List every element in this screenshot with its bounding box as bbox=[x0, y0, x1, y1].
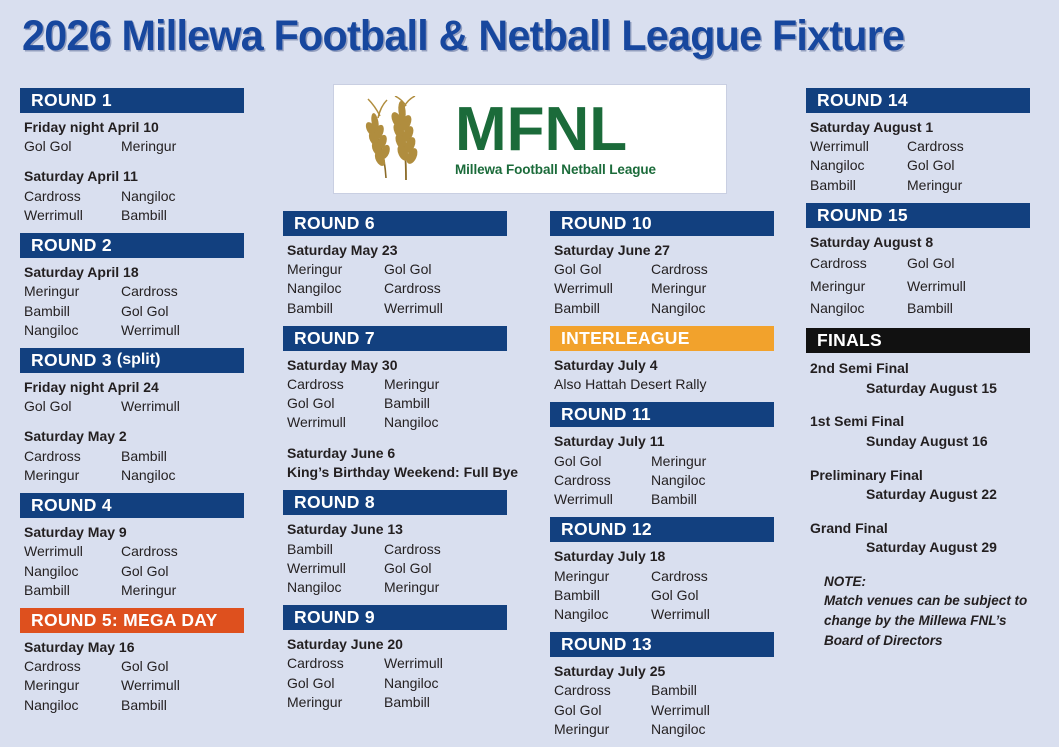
round-body: Saturday April 18MeringurCardrossBambill… bbox=[20, 258, 244, 346]
round-header-bar: ROUND 6 bbox=[283, 211, 507, 236]
away-team: Meringur bbox=[121, 137, 244, 156]
final-date: Sunday August 16 bbox=[810, 432, 1030, 452]
list-item: Grand FinalSaturday August 29 bbox=[810, 519, 1030, 558]
list-item: 1st Semi FinalSunday August 16 bbox=[810, 412, 1030, 451]
home-team: Cardross bbox=[810, 252, 907, 275]
logo-tagline: Millewa Football Netball League bbox=[455, 162, 656, 177]
round-header-bar: ROUND 1 bbox=[20, 88, 244, 113]
table-row: MeringurGol Gol bbox=[287, 260, 507, 279]
table-row: NangilocMeringur bbox=[287, 578, 507, 597]
final-name: Preliminary Final bbox=[810, 466, 1030, 486]
home-team: Werrimull bbox=[554, 490, 651, 509]
round-block: ROUND 1Friday night April 10Gol GolMerin… bbox=[20, 88, 244, 231]
home-team: Cardross bbox=[24, 447, 121, 466]
table-row: Gol GolCardross bbox=[554, 260, 774, 279]
round-header-label: ROUND 1 bbox=[31, 90, 112, 111]
round-header-label: ROUND 13 bbox=[561, 634, 652, 655]
home-team: Meringur bbox=[24, 676, 121, 695]
round-header-label: ROUND 15 bbox=[817, 205, 908, 226]
away-team: Meringur bbox=[907, 176, 1030, 195]
table-row: MeringurWerrimull bbox=[24, 676, 244, 695]
round-header-bar: ROUND 5: MEGA DAY bbox=[20, 608, 244, 633]
round-header-bar: ROUND 3(split) bbox=[20, 348, 244, 373]
table-row: Gol GolNangiloc bbox=[287, 674, 507, 693]
table-row: Gol GolMeringur bbox=[554, 452, 774, 471]
away-team: Werrimull bbox=[121, 321, 244, 340]
round-body: Saturday June 13BambillCardrossWerrimull… bbox=[283, 515, 507, 603]
home-team: Werrimull bbox=[810, 137, 907, 156]
fixture-date: Saturday May 16 bbox=[24, 638, 244, 657]
away-team: Bambill bbox=[384, 394, 507, 413]
fixture-date: Saturday April 11 bbox=[24, 167, 244, 186]
away-team: Werrimull bbox=[651, 701, 774, 720]
table-row: MeringurCardross bbox=[24, 282, 244, 301]
fixture-date: Saturday July 4 bbox=[554, 356, 774, 375]
home-team: Gol Gol bbox=[24, 397, 121, 416]
home-team: Gol Gol bbox=[554, 260, 651, 279]
round-block: ROUND 3(split)Friday night April 24Gol G… bbox=[20, 348, 244, 491]
away-team: Gol Gol bbox=[384, 559, 507, 578]
round-header-bar: INTERLEAGUE bbox=[550, 326, 774, 351]
round-header-bar: ROUND 4 bbox=[20, 493, 244, 518]
fixture-date: Saturday June 13 bbox=[287, 520, 507, 539]
fixture-date: Saturday May 2 bbox=[24, 427, 244, 446]
table-row: CardrossWerrimull bbox=[287, 654, 507, 673]
away-team: Bambill bbox=[651, 490, 774, 509]
away-team: Meringur bbox=[121, 581, 244, 600]
final-name: 1st Semi Final bbox=[810, 412, 1030, 432]
table-row: WerrimullBambill bbox=[24, 206, 244, 225]
home-team: Gol Gol bbox=[554, 701, 651, 720]
home-team: Cardross bbox=[24, 657, 121, 676]
home-team: Gol Gol bbox=[554, 452, 651, 471]
fixture-column-4: ROUND 14Saturday August 1WerrimullCardro… bbox=[806, 88, 1030, 652]
round-header-bar: ROUND 13 bbox=[550, 632, 774, 657]
final-date: Saturday August 22 bbox=[810, 485, 1030, 505]
home-team: Bambill bbox=[287, 540, 384, 559]
round-header-bar: ROUND 15 bbox=[806, 203, 1030, 228]
home-team: Bambill bbox=[554, 586, 651, 605]
round-header-label: ROUND 8 bbox=[294, 492, 375, 513]
round-header-label: ROUND 3 bbox=[31, 350, 112, 371]
round-header-bar: ROUND 14 bbox=[806, 88, 1030, 113]
away-team: Nangiloc bbox=[384, 674, 507, 693]
round-block: ROUND 13Saturday July 25CardrossBambillG… bbox=[550, 632, 774, 745]
table-row: MeringurBambill bbox=[287, 693, 507, 712]
away-team: Bambill bbox=[907, 297, 1030, 320]
round-header-suffix: (split) bbox=[117, 351, 161, 369]
finals-header-label: FINALS bbox=[817, 330, 882, 351]
fixture-column-2: ROUND 6Saturday May 23MeringurGol GolNan… bbox=[283, 211, 507, 720]
footer-note-line: Board of Directors bbox=[824, 631, 1030, 651]
away-team: Bambill bbox=[121, 447, 244, 466]
away-team: Cardross bbox=[121, 282, 244, 301]
table-row: CardrossBambill bbox=[554, 681, 774, 700]
home-team: Bambill bbox=[554, 299, 651, 318]
away-team: Cardross bbox=[907, 137, 1030, 156]
home-team: Meringur bbox=[810, 275, 907, 298]
fixture-date: Friday night April 10 bbox=[24, 118, 244, 137]
table-row: BambillCardross bbox=[287, 540, 507, 559]
home-team: Meringur bbox=[554, 567, 651, 586]
round-header-label: ROUND 7 bbox=[294, 328, 375, 349]
home-team: Gol Gol bbox=[24, 137, 121, 156]
home-team: Werrimull bbox=[554, 279, 651, 298]
logo-text-group: MFNL Millewa Football Netball League bbox=[455, 101, 656, 177]
round-body: Saturday July 11Gol GolMeringurCardrossN… bbox=[550, 427, 774, 515]
round-block: ROUND 2Saturday April 18MeringurCardross… bbox=[20, 233, 244, 346]
fixture-date: Saturday May 30 bbox=[287, 356, 507, 375]
home-team: Cardross bbox=[287, 654, 384, 673]
round-block: ROUND 12Saturday July 18MeringurCardross… bbox=[550, 517, 774, 630]
list-item: Preliminary FinalSaturday August 22 bbox=[810, 466, 1030, 505]
away-team: Gol Gol bbox=[121, 657, 244, 676]
home-team: Nangiloc bbox=[24, 321, 121, 340]
table-row: CardrossNangiloc bbox=[24, 187, 244, 206]
table-row: WerrimullBambill bbox=[554, 490, 774, 509]
away-team: Gol Gol bbox=[121, 562, 244, 581]
away-team: Nangiloc bbox=[651, 720, 774, 739]
home-team: Gol Gol bbox=[287, 674, 384, 693]
round-block: INTERLEAGUESaturday July 4Also Hattah De… bbox=[550, 326, 774, 401]
away-team: Nangiloc bbox=[121, 466, 244, 485]
round-header-label: ROUND 5: MEGA DAY bbox=[31, 610, 218, 631]
table-row: WerrimullNangiloc bbox=[287, 413, 507, 432]
away-team: Gol Gol bbox=[907, 252, 1030, 275]
round-block: ROUND 11Saturday July 11Gol GolMeringurC… bbox=[550, 402, 774, 515]
round-header-label: ROUND 6 bbox=[294, 213, 375, 234]
round-header-bar: ROUND 12 bbox=[550, 517, 774, 542]
table-row: NangilocBambill bbox=[24, 696, 244, 715]
group-spacer bbox=[24, 416, 244, 427]
table-row: NangilocBambill bbox=[810, 297, 1030, 320]
away-team: Nangiloc bbox=[651, 471, 774, 490]
home-team: Nangiloc bbox=[287, 578, 384, 597]
table-row: BambillMeringur bbox=[810, 176, 1030, 195]
fixture-date: Saturday June 20 bbox=[287, 635, 507, 654]
round-body: Saturday July 25CardrossBambillGol GolWe… bbox=[550, 657, 774, 745]
group-spacer bbox=[287, 433, 507, 444]
away-team: Meringur bbox=[651, 452, 774, 471]
table-row: Gol GolWerrimull bbox=[554, 701, 774, 720]
away-team: Cardross bbox=[121, 542, 244, 561]
away-team: Gol Gol bbox=[651, 586, 774, 605]
away-team: Gol Gol bbox=[907, 156, 1030, 175]
round-header-label: ROUND 2 bbox=[31, 235, 112, 256]
round-header-label: ROUND 9 bbox=[294, 607, 375, 628]
fixture-date: Friday night April 24 bbox=[24, 378, 244, 397]
away-team: Bambill bbox=[121, 696, 244, 715]
home-team: Cardross bbox=[287, 375, 384, 394]
round-body: Saturday August 8CardrossGol GolMeringur… bbox=[806, 228, 1030, 326]
away-team: Meringur bbox=[384, 375, 507, 394]
fixture-date: Saturday August 8 bbox=[810, 233, 1030, 252]
home-team: Nangiloc bbox=[810, 156, 907, 175]
round-header-bar: ROUND 8 bbox=[283, 490, 507, 515]
table-row: CardrossMeringur bbox=[287, 375, 507, 394]
away-team: Werrimull bbox=[651, 605, 774, 624]
round-body: Saturday June 27Gol GolCardrossWerrimull… bbox=[550, 236, 774, 324]
away-team: Cardross bbox=[384, 279, 507, 298]
round-body: Saturday May 23MeringurGol GolNangilocCa… bbox=[283, 236, 507, 324]
away-team: Bambill bbox=[384, 693, 507, 712]
fixture-date: Saturday July 25 bbox=[554, 662, 774, 681]
round-header-label: ROUND 14 bbox=[817, 90, 908, 111]
home-team: Nangiloc bbox=[287, 279, 384, 298]
finals-header-bar: FINALS bbox=[806, 328, 1030, 353]
table-row: WerrimullGol Gol bbox=[287, 559, 507, 578]
table-row: MeringurWerrimull bbox=[810, 275, 1030, 298]
table-row: Gol GolMeringur bbox=[24, 137, 244, 156]
fixture-date: Saturday August 1 bbox=[810, 118, 1030, 137]
round-block: ROUND 4Saturday May 9WerrimullCardrossNa… bbox=[20, 493, 244, 606]
away-team: Werrimull bbox=[121, 397, 244, 416]
table-row: BambillGol Gol bbox=[554, 586, 774, 605]
table-row: CardrossBambill bbox=[24, 447, 244, 466]
table-row: NangilocCardross bbox=[287, 279, 507, 298]
home-team: Cardross bbox=[554, 681, 651, 700]
round-body: Saturday May 30CardrossMeringurGol GolBa… bbox=[283, 351, 507, 488]
round-block: ROUND 14Saturday August 1WerrimullCardro… bbox=[806, 88, 1030, 201]
home-team: Cardross bbox=[554, 471, 651, 490]
logo-acronym: MFNL bbox=[455, 101, 656, 158]
round-header-bar: ROUND 2 bbox=[20, 233, 244, 258]
away-team: Gol Gol bbox=[121, 302, 244, 321]
table-row: NangilocGol Gol bbox=[810, 156, 1030, 175]
page-title: 2026 Millewa Football & Netball League F… bbox=[22, 14, 1001, 59]
home-team: Nangiloc bbox=[24, 562, 121, 581]
away-team: Nangiloc bbox=[651, 299, 774, 318]
round-header-label: ROUND 4 bbox=[31, 495, 112, 516]
final-date: Saturday August 15 bbox=[810, 379, 1030, 399]
round-block: ROUND 6Saturday May 23MeringurGol GolNan… bbox=[283, 211, 507, 324]
round-body: Friday night April 24Gol GolWerrimullSat… bbox=[20, 373, 244, 491]
away-team: Bambill bbox=[651, 681, 774, 700]
home-team: Bambill bbox=[24, 581, 121, 600]
table-row: NangilocWerrimull bbox=[554, 605, 774, 624]
fixture-date: Saturday May 9 bbox=[24, 523, 244, 542]
away-team: Cardross bbox=[651, 567, 774, 586]
round-body: Friday night April 10Gol GolMeringurSatu… bbox=[20, 113, 244, 231]
finals-block: FINALS2nd Semi FinalSaturday August 151s… bbox=[806, 328, 1030, 650]
home-team: Werrimull bbox=[24, 206, 121, 225]
round-block: ROUND 9Saturday June 20CardrossWerrimull… bbox=[283, 605, 507, 718]
home-team: Meringur bbox=[24, 282, 121, 301]
away-team: Werrimull bbox=[384, 654, 507, 673]
fixture-date: Saturday June 27 bbox=[554, 241, 774, 260]
table-row: MeringurNangiloc bbox=[24, 466, 244, 485]
home-team: Werrimull bbox=[287, 413, 384, 432]
home-team: Bambill bbox=[287, 299, 384, 318]
round-block: ROUND 15Saturday August 8CardrossGol Gol… bbox=[806, 203, 1030, 326]
table-row: MeringurNangiloc bbox=[554, 720, 774, 739]
away-team: Gol Gol bbox=[384, 260, 507, 279]
home-team: Cardross bbox=[24, 187, 121, 206]
footer-note-line: Match venues can be subject to bbox=[824, 591, 1030, 611]
away-team: Werrimull bbox=[907, 275, 1030, 298]
home-team: Bambill bbox=[810, 176, 907, 195]
round-header-bar: ROUND 10 bbox=[550, 211, 774, 236]
table-row: MeringurCardross bbox=[554, 567, 774, 586]
away-team: Bambill bbox=[121, 206, 244, 225]
table-row: BambillWerrimull bbox=[287, 299, 507, 318]
table-row: BambillMeringur bbox=[24, 581, 244, 600]
round-block: ROUND 10Saturday June 27Gol GolCardrossW… bbox=[550, 211, 774, 324]
home-team: Gol Gol bbox=[287, 394, 384, 413]
fixture-column-1: ROUND 1Friday night April 10Gol GolMerin… bbox=[20, 88, 244, 723]
home-team: Meringur bbox=[287, 260, 384, 279]
final-date: Saturday August 29 bbox=[810, 538, 1030, 558]
home-team: Meringur bbox=[24, 466, 121, 485]
away-team: Werrimull bbox=[384, 299, 507, 318]
table-row: Gol GolBambill bbox=[287, 394, 507, 413]
home-team: Werrimull bbox=[287, 559, 384, 578]
round-header-label: ROUND 11 bbox=[561, 404, 651, 425]
round-body: Saturday May 16CardrossGol GolMeringurWe… bbox=[20, 633, 244, 721]
home-team: Nangiloc bbox=[810, 297, 907, 320]
fixture-subnote: Also Hattah Desert Rally bbox=[554, 375, 774, 394]
fixture-column-3: ROUND 10Saturday June 27Gol GolCardrossW… bbox=[550, 211, 774, 747]
footer-note-line: change by the Millewa FNL’s bbox=[824, 611, 1030, 631]
table-row: WerrimullCardross bbox=[810, 137, 1030, 156]
home-team: Werrimull bbox=[24, 542, 121, 561]
round-body: Saturday July 4Also Hattah Desert Rally bbox=[550, 351, 774, 401]
round-header-label: ROUND 12 bbox=[561, 519, 652, 540]
final-name: Grand Final bbox=[810, 519, 1030, 539]
away-team: Meringur bbox=[384, 578, 507, 597]
round-block: ROUND 7Saturday May 30CardrossMeringurGo… bbox=[283, 326, 507, 488]
away-team: Nangiloc bbox=[384, 413, 507, 432]
round-header-label: INTERLEAGUE bbox=[561, 328, 690, 349]
away-team: Meringur bbox=[651, 279, 774, 298]
table-row: NangilocGol Gol bbox=[24, 562, 244, 581]
round-header-bar: ROUND 9 bbox=[283, 605, 507, 630]
home-team: Meringur bbox=[287, 693, 384, 712]
finals-body: 2nd Semi FinalSaturday August 151st Semi… bbox=[806, 353, 1030, 558]
table-row: CardrossGol Gol bbox=[810, 252, 1030, 275]
round-body: Saturday May 9WerrimullCardrossNangilocG… bbox=[20, 518, 244, 606]
wheat-icon bbox=[356, 96, 451, 182]
home-team: Bambill bbox=[24, 302, 121, 321]
home-team: Meringur bbox=[554, 720, 651, 739]
home-team: Nangiloc bbox=[554, 605, 651, 624]
fixture-date: Saturday April 18 bbox=[24, 263, 244, 282]
round-body: Saturday August 1WerrimullCardrossNangil… bbox=[806, 113, 1030, 201]
table-row: WerrimullMeringur bbox=[554, 279, 774, 298]
round-header-label: ROUND 10 bbox=[561, 213, 652, 234]
fixture-date: Saturday July 11 bbox=[554, 432, 774, 451]
table-row: BambillNangiloc bbox=[554, 299, 774, 318]
away-team: Cardross bbox=[651, 260, 774, 279]
final-name: 2nd Semi Final bbox=[810, 359, 1030, 379]
table-row: Gol GolWerrimull bbox=[24, 397, 244, 416]
home-team: Nangiloc bbox=[24, 696, 121, 715]
table-row: BambillGol Gol bbox=[24, 302, 244, 321]
mfnl-logo: MFNL Millewa Football Netball League bbox=[333, 84, 727, 194]
list-item: 2nd Semi FinalSaturday August 15 bbox=[810, 359, 1030, 398]
fixture-note: King’s Birthday Weekend: Full Bye bbox=[287, 463, 507, 482]
table-row: NangilocWerrimull bbox=[24, 321, 244, 340]
away-team: Werrimull bbox=[121, 676, 244, 695]
footer-note: NOTE:Match venues can be subject tochang… bbox=[806, 572, 1030, 650]
round-header-bar: ROUND 7 bbox=[283, 326, 507, 351]
table-row: CardrossNangiloc bbox=[554, 471, 774, 490]
round-body: Saturday July 18MeringurCardrossBambillG… bbox=[550, 542, 774, 630]
away-team: Nangiloc bbox=[121, 187, 244, 206]
round-block: ROUND 5: MEGA DAYSaturday May 16Cardross… bbox=[20, 608, 244, 721]
group-spacer bbox=[24, 156, 244, 167]
round-block: ROUND 8Saturday June 13BambillCardrossWe… bbox=[283, 490, 507, 603]
table-row: WerrimullCardross bbox=[24, 542, 244, 561]
fixture-date: Saturday July 18 bbox=[554, 547, 774, 566]
fixture-date: Saturday May 23 bbox=[287, 241, 507, 260]
fixture-date: Saturday June 6 bbox=[287, 444, 507, 463]
table-row: CardrossGol Gol bbox=[24, 657, 244, 676]
away-team: Cardross bbox=[384, 540, 507, 559]
footer-note-line: NOTE: bbox=[824, 572, 1030, 592]
round-body: Saturday June 20CardrossWerrimullGol Gol… bbox=[283, 630, 507, 718]
round-header-bar: ROUND 11 bbox=[550, 402, 774, 427]
